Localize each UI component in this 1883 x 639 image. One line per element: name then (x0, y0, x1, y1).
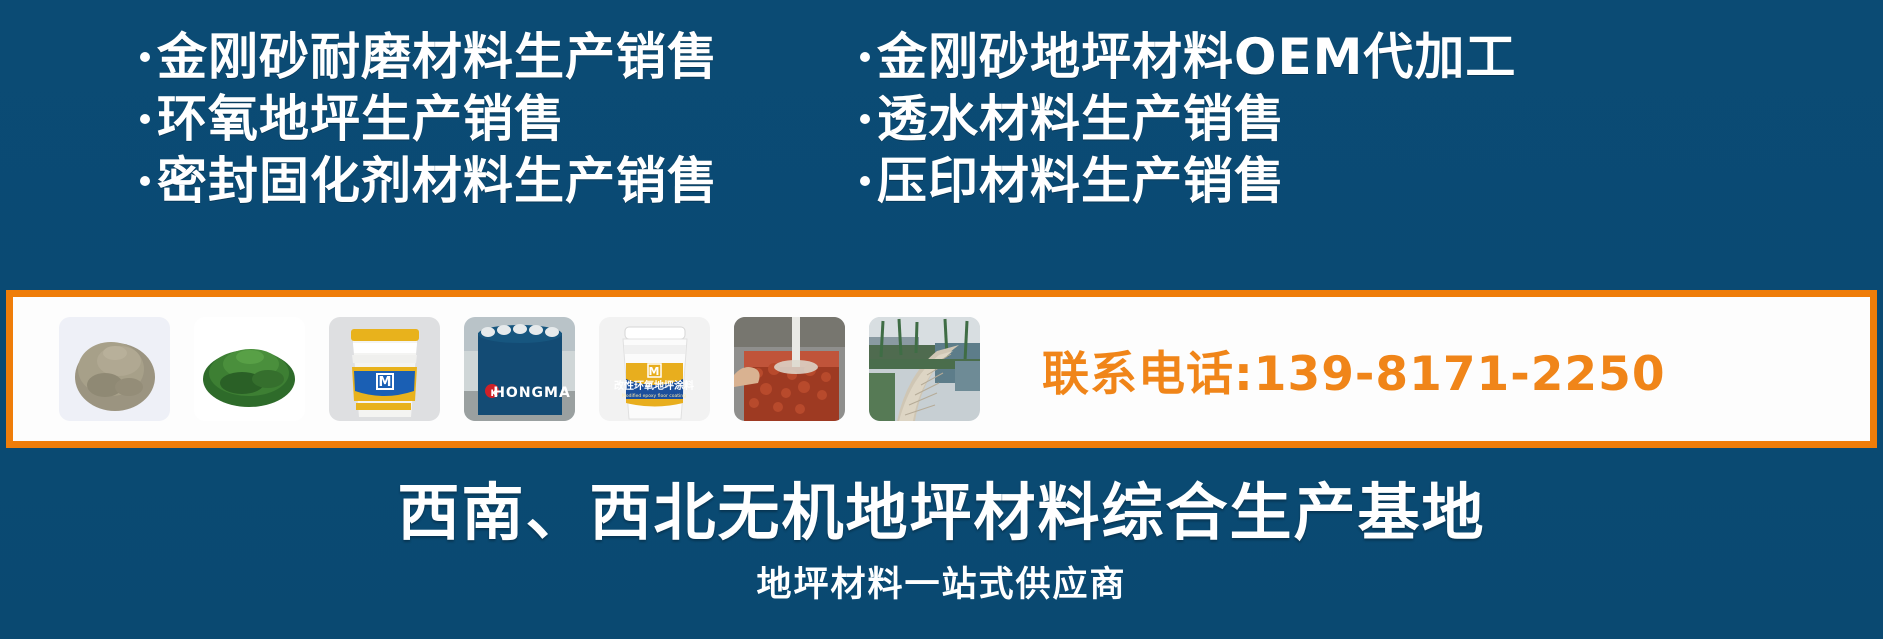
feature-label: 压印材料生产销售 (877, 154, 1285, 208)
permeable-aggregate-icon (734, 317, 845, 421)
green-abrasive-powder-pile-icon (194, 317, 305, 421)
feature-item: 环氧地坪生产销售 (140, 92, 860, 146)
feature-column-left: 金刚砂耐磨材料生产销售 环氧地坪生产销售 密封固化剂材料生产销售 (140, 30, 860, 230)
feature-label: 金刚砂地坪材料OEM代加工 (877, 30, 1516, 84)
footer-headline: 西南、西北无机地坪材料综合生产基地 (0, 462, 1883, 552)
feature-item: 压印材料生产销售 (860, 154, 1880, 208)
svg-text:HONGMA: HONGMA (493, 385, 571, 401)
product-thumbnail-green-abrasive-powder-pile (194, 317, 305, 421)
feature-item: 金刚砂地坪材料OEM代加工 (860, 30, 1880, 84)
svg-text:M: M (649, 365, 660, 378)
bullet-dot-icon (860, 114, 870, 124)
contact-phone[interactable]: 联系电话:139-8171-2250 (1042, 335, 1666, 404)
product-thumbnail-blue-drum-hongma: K HONGMA (464, 317, 575, 421)
gray-abrasive-powder-pile-icon (59, 317, 170, 421)
footer-subline: 地坪材料一站式供应商 (0, 556, 1883, 607)
svg-text:Modified epoxy floor coating: Modified epoxy floor coating (622, 393, 686, 399)
bullet-dot-icon (140, 114, 150, 124)
epoxy-coating-bucket-icon: M 改性环氧地坪涂料 Modified epoxy floor coating (599, 317, 710, 421)
product-strip: M (6, 290, 1877, 448)
bullet-dot-icon (860, 176, 870, 186)
product-thumbnail-white-bucket-epoxy-coating: M 改性环氧地坪涂料 Modified epoxy floor coating (599, 317, 710, 421)
sealer-bucket-icon: M (329, 317, 440, 421)
product-thumbnail-white-yellow-bucket-sealer: M (329, 317, 440, 421)
feature-label: 环氧地坪生产销售 (157, 92, 565, 146)
feature-column-right: 金刚砂地坪材料OEM代加工 透水材料生产销售 压印材料生产销售 (860, 30, 1880, 230)
svg-text:改性环氧地坪涂料: 改性环氧地坪涂料 (614, 379, 694, 392)
product-thumbnail-red-permeable-aggregate (734, 317, 845, 421)
bullet-dot-icon (860, 52, 870, 62)
svg-text:M: M (379, 375, 392, 390)
bullet-dot-icon (140, 176, 150, 186)
feature-label: 金刚砂耐磨材料生产销售 (157, 30, 718, 84)
feature-lists: 金刚砂耐磨材料生产销售 环氧地坪生产销售 密封固化剂材料生产销售 金刚砂地坪材料… (0, 30, 1883, 230)
product-thumbnail-gray-abrasive-powder-pile (59, 317, 170, 421)
feature-label: 密封固化剂材料生产销售 (157, 154, 718, 208)
feature-item: 密封固化剂材料生产销售 (140, 154, 860, 208)
feature-item: 金刚砂耐磨材料生产销售 (140, 30, 860, 84)
bullet-dot-icon (140, 52, 150, 62)
feature-label: 透水材料生产销售 (877, 92, 1285, 146)
feature-item: 透水材料生产销售 (860, 92, 1880, 146)
product-thumbnail-stamped-concrete-walkway (869, 317, 980, 421)
hongma-blue-drum-icon: K HONGMA (464, 317, 575, 421)
product-thumbnail-list: M (13, 297, 980, 441)
advertising-banner: 金刚砂耐磨材料生产销售 环氧地坪生产销售 密封固化剂材料生产销售 金刚砂地坪材料… (0, 0, 1883, 639)
stamped-walkway-icon (869, 317, 980, 421)
